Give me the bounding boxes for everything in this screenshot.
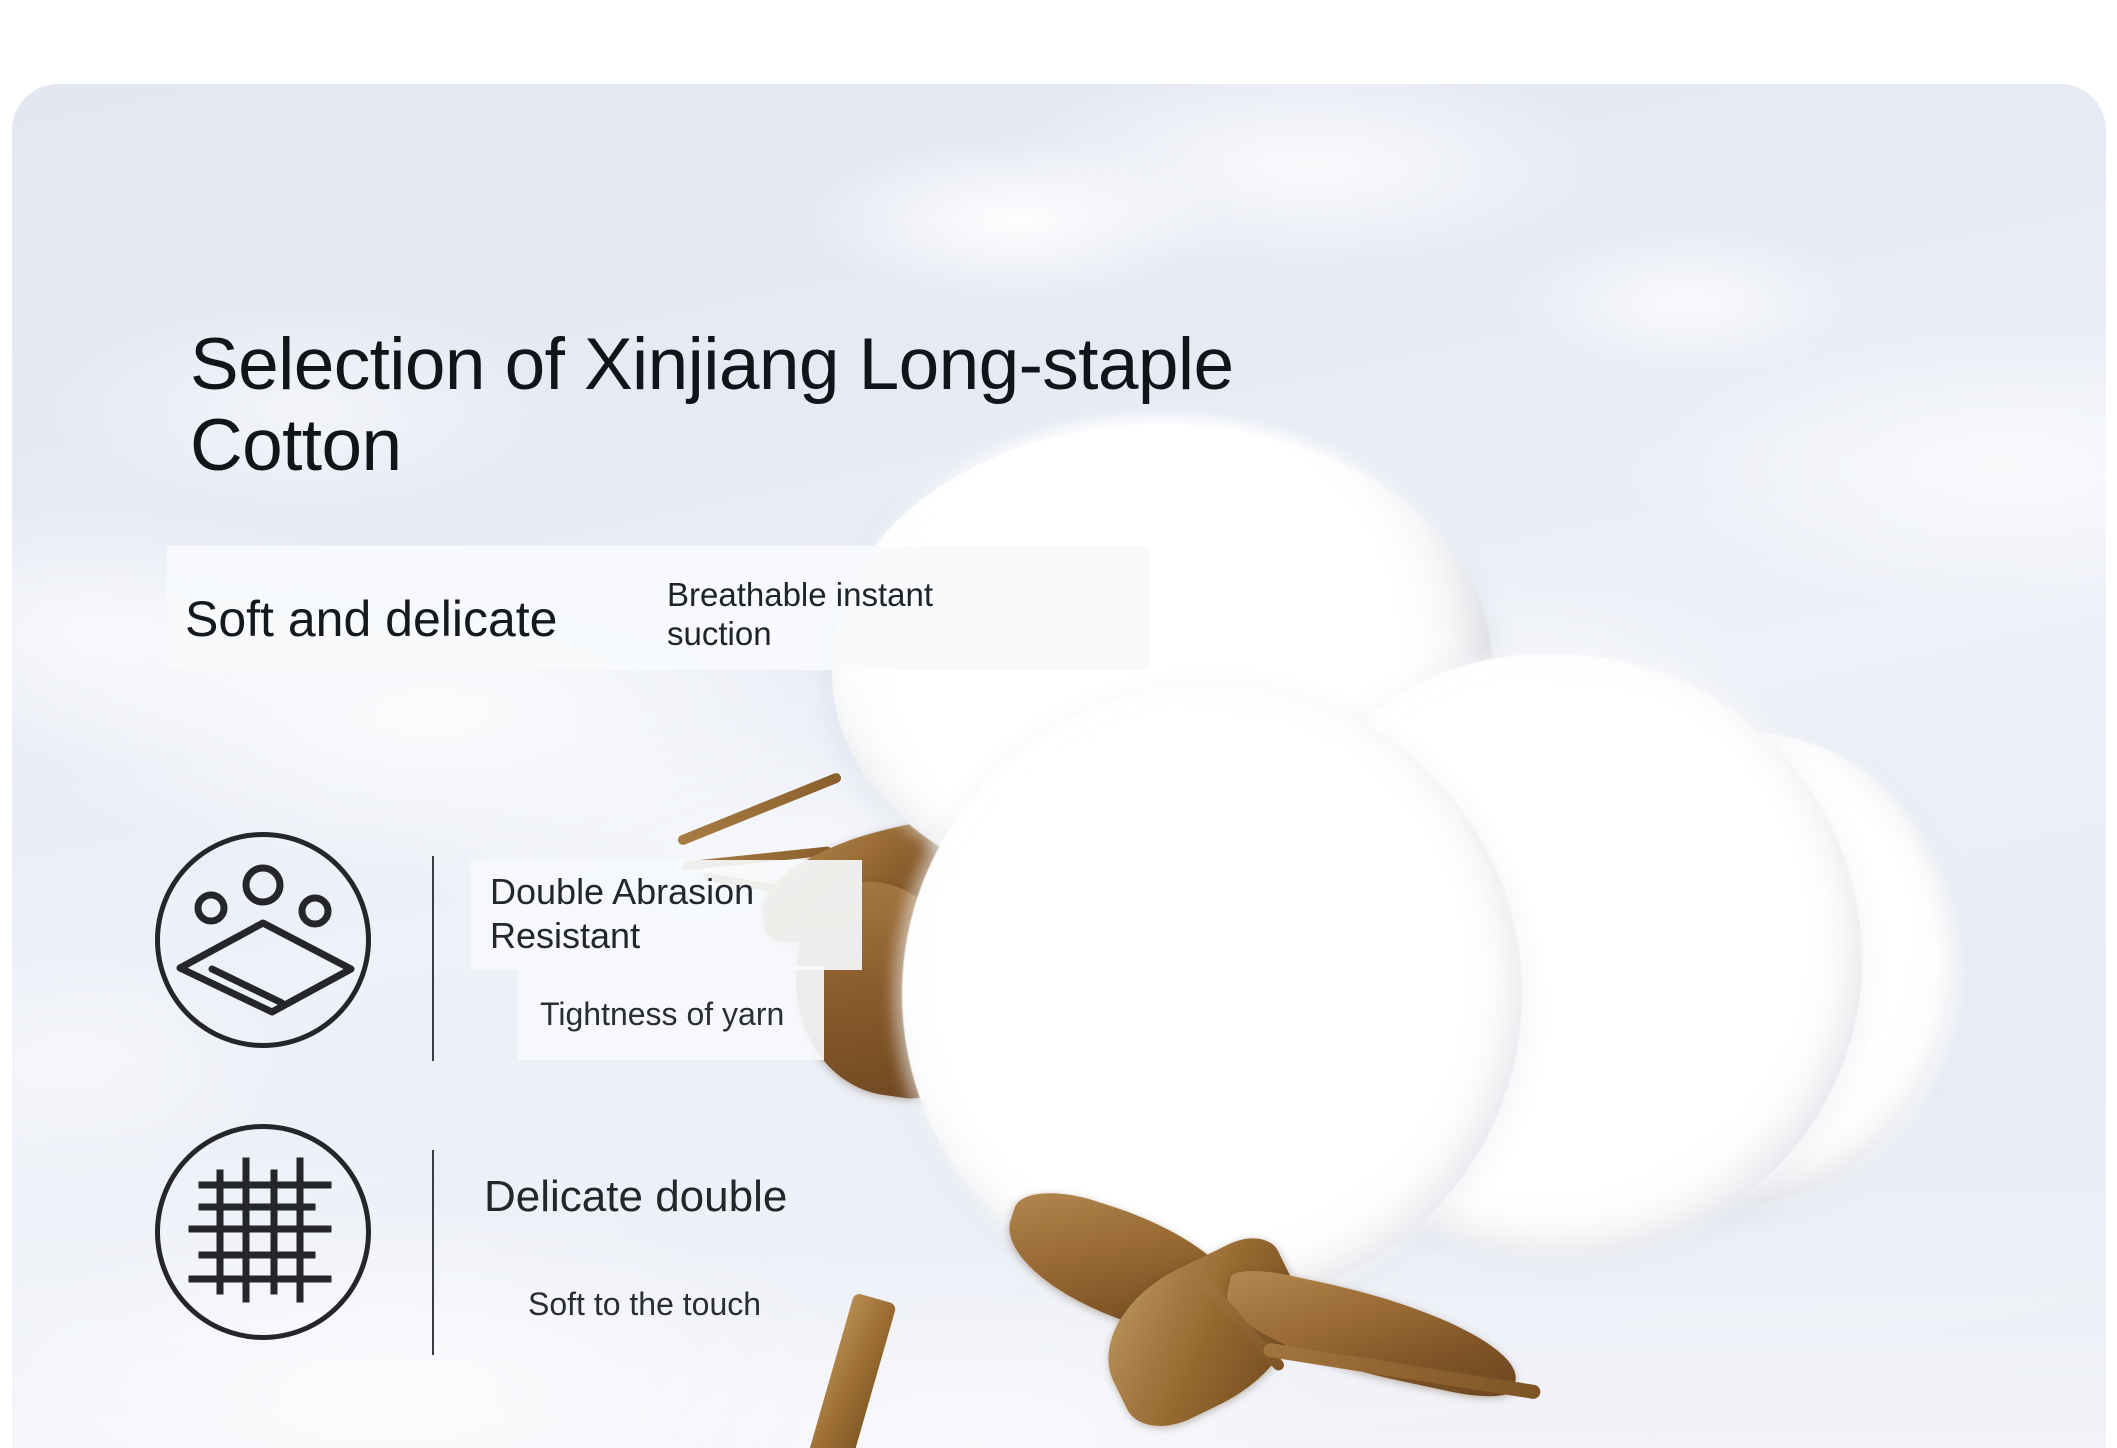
- woven-mesh-glyph: [160, 1129, 366, 1335]
- promo-banner: Selection of Xinjiang Long-staple Cotton…: [0, 0, 2117, 1448]
- promo-card: Selection of Xinjiang Long-staple Cotton…: [12, 84, 2106, 1448]
- cotton-puff: [902, 684, 1522, 1304]
- fabric-droplets-icon: [155, 832, 371, 1048]
- page-title: Selection of Xinjiang Long-staple Cotton: [190, 324, 1530, 486]
- feature-title: Double Abrasion Resistant: [490, 870, 870, 958]
- feature-divider: [432, 856, 434, 1061]
- fabric-droplets-glyph: [160, 837, 366, 1043]
- feature-divider: [432, 1150, 434, 1355]
- tagline-main: Soft and delicate: [185, 590, 558, 648]
- cotton-stem: [791, 1292, 897, 1448]
- woven-mesh-icon: [155, 1124, 371, 1340]
- feature-subtitle: Soft to the touch: [528, 1286, 761, 1323]
- tagline-band: Soft and delicate Breathable instant suc…: [167, 546, 1149, 670]
- tagline-sub: Breathable instant suction: [667, 576, 1027, 654]
- stem-twig: [676, 772, 842, 847]
- feature-subtitle: Tightness of yarn: [540, 996, 784, 1033]
- feature-title: Delicate double: [484, 1170, 904, 1224]
